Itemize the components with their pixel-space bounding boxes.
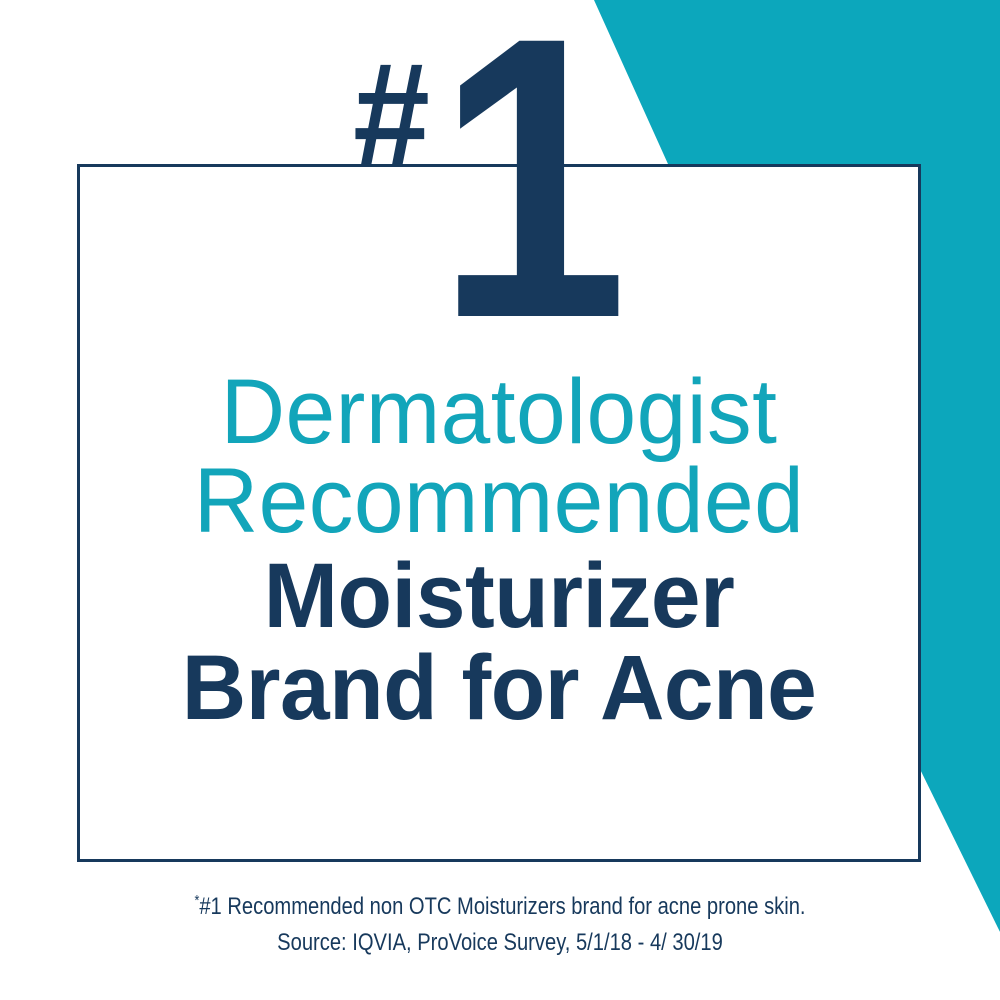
headline-line-brand-for-acne: Brand for Acne <box>90 644 909 733</box>
headline-line-dermatologist: Dermatologist <box>90 368 909 457</box>
footnote-disclaimer-text: #1 Recommended non OTC Moisturizers bran… <box>199 893 805 920</box>
footnote-block: *#1 Recommended non OTC Moisturizers bra… <box>0 889 1000 960</box>
headline-line-moisturizer: Moisturizer <box>90 552 909 641</box>
footnote-line-source: Source: IQVIA, ProVoice Survey, 5/1/18 -… <box>80 925 920 961</box>
hash-symbol: # <box>353 40 424 190</box>
rank-number: 1 <box>437 0 628 378</box>
headline-block: Dermatologist Recommended Moisturizer Br… <box>77 368 921 733</box>
footnote-line-disclaimer: *#1 Recommended non OTC Moisturizers bra… <box>80 889 920 925</box>
promo-graphic-canvas: #1 Dermatologist Recommended Moisturizer… <box>0 0 1000 1000</box>
headline-line-recommended: Recommended <box>90 457 909 546</box>
